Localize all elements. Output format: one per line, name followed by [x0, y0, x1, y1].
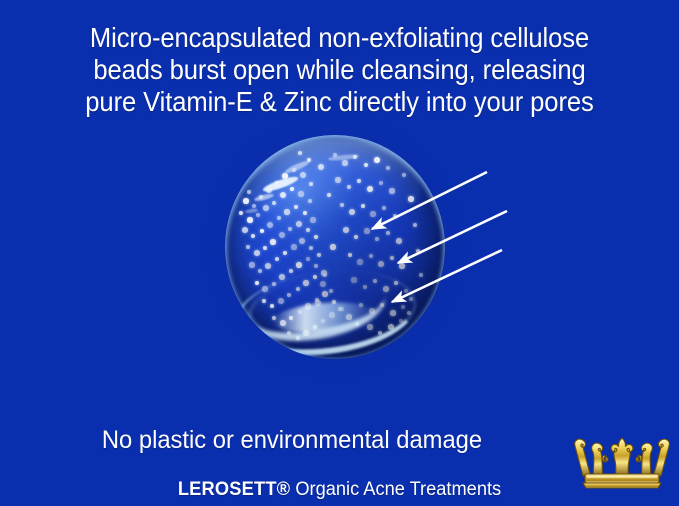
- poster-canvas: Micro-encapsulated non-exfoliating cellu…: [0, 0, 679, 506]
- crown-icon: [571, 434, 673, 492]
- headline-line-2: beads burst open while cleansing, releas…: [24, 54, 655, 86]
- headline-line-3: pure Vitamin-E & Zinc directly into your…: [24, 86, 655, 118]
- cellulose-bead-sphere: [225, 135, 445, 359]
- brand-line: LEROSETT® Organic Acne Treatments: [14, 478, 666, 502]
- headline: Micro-encapsulated non-exfoliating cellu…: [24, 22, 655, 118]
- headline-line-1: Micro-encapsulated non-exfoliating cellu…: [24, 22, 655, 54]
- brand-name: LEROSETT®: [178, 479, 290, 500]
- bead-illustration: [222, 131, 450, 363]
- brand-descriptor: Organic Acne Treatments: [290, 479, 501, 500]
- tagline: No plastic or environmental damage: [15, 425, 570, 455]
